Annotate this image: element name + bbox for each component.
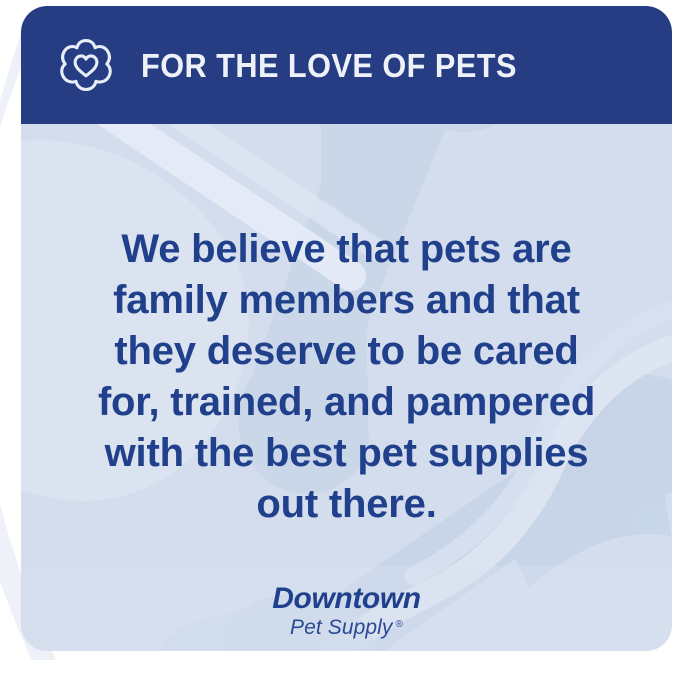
brand-quote: We believe that pets are family members … — [21, 224, 672, 530]
quote-line: for, trained, and pampered — [55, 377, 638, 428]
logo-wordmark: Downtown — [21, 584, 672, 614]
quote-line: with the best pet supplies — [55, 428, 638, 479]
card-header: FOR THE LOVE OF PETS — [21, 6, 672, 124]
logo-tagline-text: Pet Supply — [290, 616, 393, 639]
quote-line: We believe that pets are — [55, 224, 638, 275]
quote-line: family members and that — [55, 275, 638, 326]
quote-line: they deserve to be cared — [55, 326, 638, 377]
brand-logo: Downtown Pet Supply® — [21, 584, 672, 638]
header-title: FOR THE LOVE OF PETS — [141, 49, 517, 82]
registered-mark: ® — [396, 619, 403, 630]
brand-card: FOR THE LOVE OF PETS We believe that pet… — [21, 6, 672, 651]
quote-line: out there. — [55, 479, 638, 530]
paw-heart-icon — [57, 36, 115, 94]
poster-canvas: FOR THE LOVE OF PETS We believe that pet… — [0, 0, 679, 679]
logo-tagline: Pet Supply® — [21, 617, 672, 638]
card-body: We believe that pets are family members … — [21, 124, 672, 651]
